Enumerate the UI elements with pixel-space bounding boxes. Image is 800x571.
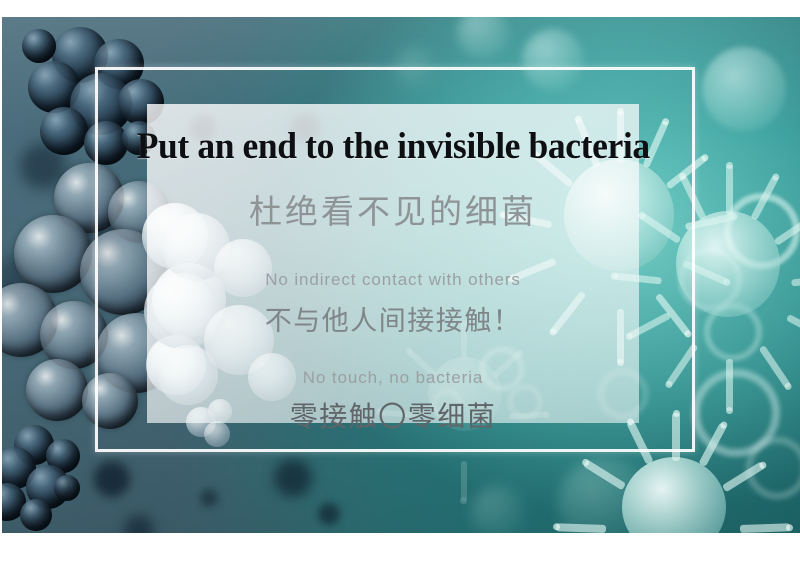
bacterium-sphere [20,499,52,531]
virus-spike [791,275,800,287]
bacterium-sphere [40,107,88,155]
poster-canvas: Put an end to the invisible bacteria 杜绝看… [0,0,800,571]
text-panel: Put an end to the invisible bacteria 杜绝看… [147,104,639,423]
subtitle-chinese: 杜绝看不见的细菌 [249,185,537,233]
left-margin [0,0,2,571]
bacterium-sphere [54,475,80,501]
page-title: Put an end to the invisible bacteria [136,128,649,165]
top-margin [0,0,800,17]
bokeh-blob [200,489,218,507]
virus-spike [583,459,626,490]
bokeh-blob [274,459,312,497]
message-line-1-english: No indirect contact with others [265,270,521,290]
message-line-1-chinese: 不与他人间接接触！ [265,299,522,338]
bacteria-cluster-bottom-left [2,425,98,533]
bacterium-sphere [22,29,56,63]
virus-spike [722,461,765,492]
virus-spike [556,523,606,533]
bacterium-sphere [26,359,88,421]
virus-spike [726,165,733,215]
virus-spike [774,214,800,246]
virus-body [622,457,726,533]
bokeh-blob [94,461,130,497]
virus-spike [726,359,733,411]
virus-spike [786,314,800,342]
virus-spike [750,175,779,221]
message-line-2-english: No touch, no bacteria [303,368,484,388]
bokeh-blob [470,485,526,533]
virus-spike [461,461,467,501]
virus-spike [698,423,727,467]
bokeh-blob [318,503,340,525]
message-line-2-chinese: 零接触〇零细菌 [290,395,497,435]
bottom-margin [0,533,800,571]
